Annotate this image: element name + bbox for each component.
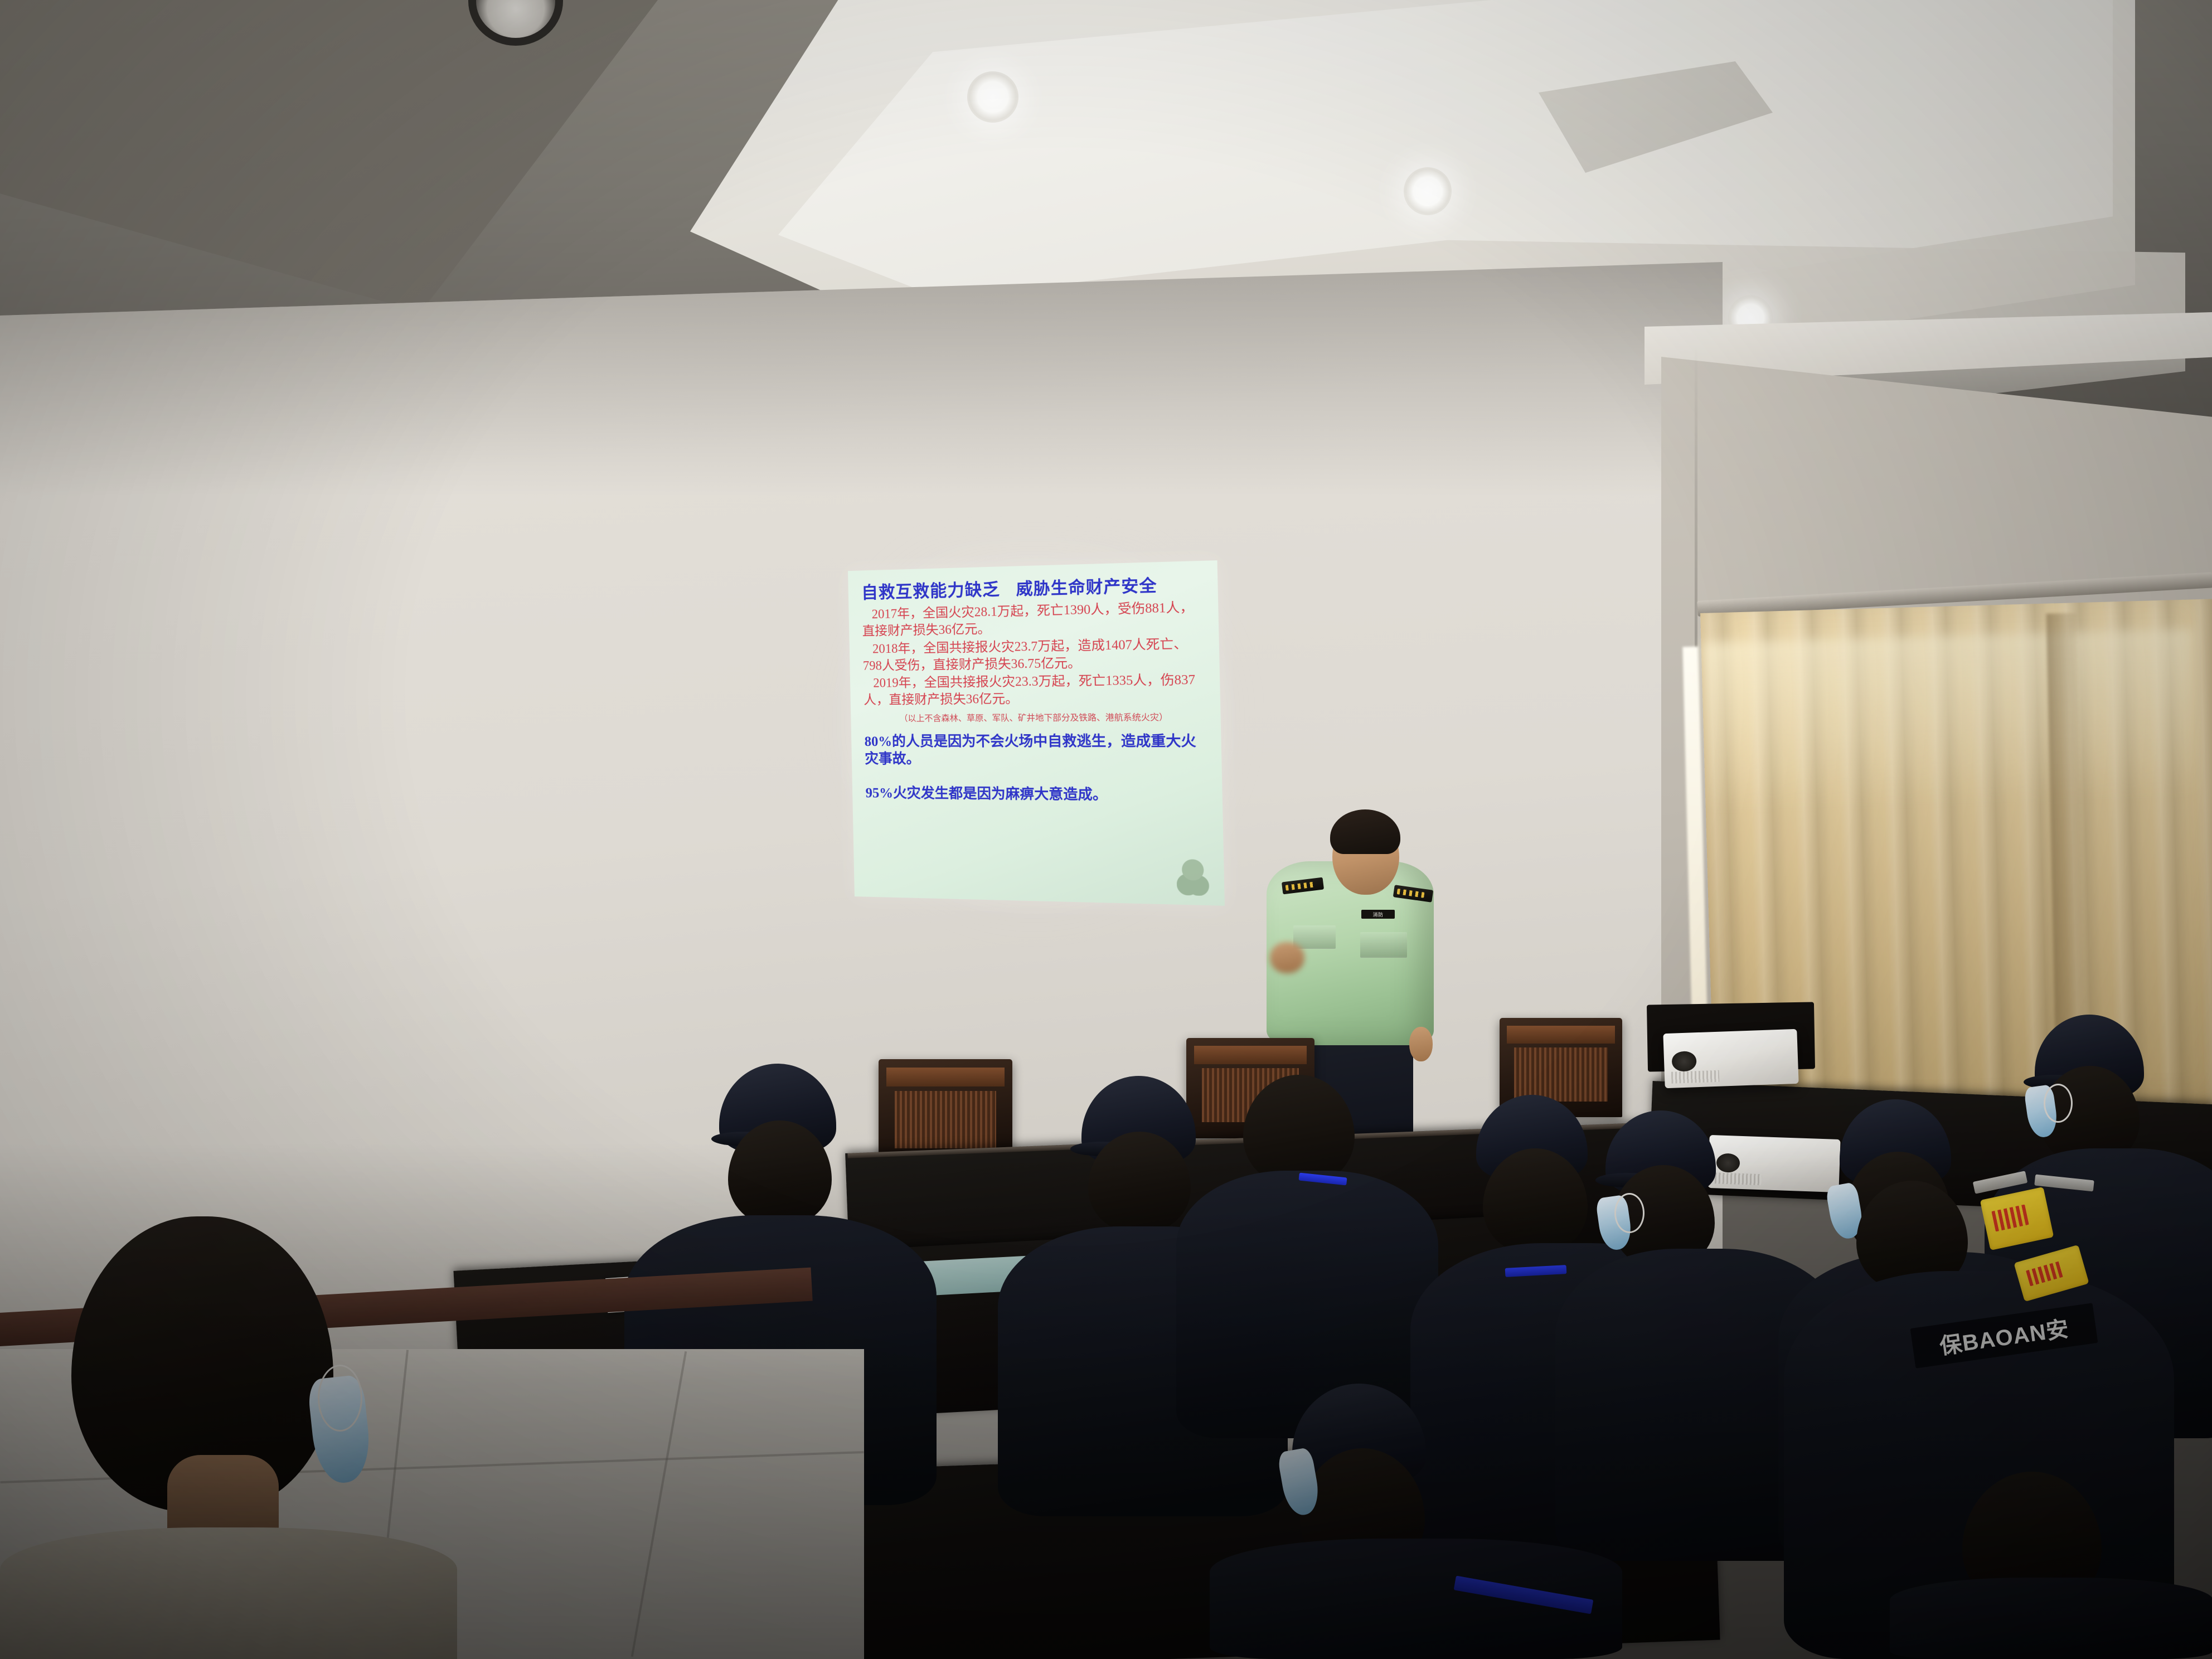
foreground-sweater xyxy=(0,1527,457,1659)
attendee-mask-strap xyxy=(1614,1193,1645,1233)
slide-heading: 自救互救能力缺乏 威胁生命财产安全 xyxy=(861,575,1205,603)
attendee-mask-strap xyxy=(2044,1084,2073,1123)
slide-stat-2017: 2017年，全国火灾28.1万起，死亡1390人，受伤881人，直接财产损失36… xyxy=(862,598,1205,639)
presenter-pocket-left xyxy=(1293,925,1336,949)
slide-watermark-logo xyxy=(1176,856,1210,896)
ceiling-downlight-icon xyxy=(967,71,1018,123)
projector-icon[interactable] xyxy=(1663,1029,1798,1088)
slide-heading-left: 自救互救能力缺乏 xyxy=(861,580,1000,603)
slide-key-pct-2: 95% xyxy=(865,785,893,801)
attendee-torso xyxy=(1890,1578,2212,1659)
slide-footnote: （以上不含森林、草原、军队、矿井地下部分及铁路、港航系统火灾） xyxy=(864,712,1207,725)
presenter-hand-left xyxy=(1270,942,1304,973)
presenter-nametag: 消防 xyxy=(1361,910,1395,919)
slide-key-text-1: 的人员是因为不会火场中自救逃生，造成重大火灾事故。 xyxy=(865,734,1196,767)
foreground-mask-strap xyxy=(318,1365,362,1432)
slide-stat-2018: 2018年，全国共接报火灾23.7万起，造成1407人死亡、798人受伤，直接财… xyxy=(862,635,1206,674)
slide-key-text-2: 火灾发生都是因为麻痹大意造成。 xyxy=(893,786,1108,803)
slide-key-point-1: 80%的人员是因为不会火场中自救逃生，造成重大火灾事故。 xyxy=(864,733,1208,769)
ceiling-downlight-icon xyxy=(1404,167,1452,215)
projected-slide: 自救互救能力缺乏 威胁生命财产安全 2017年，全国火灾28.1万起，死亡139… xyxy=(848,560,1225,906)
presenter-hand-right xyxy=(1409,1027,1433,1061)
slide-key-point-2: 95%火灾发生都是因为麻痹大意造成。 xyxy=(865,784,1209,805)
slide-heading-right: 威胁生命财产安全 xyxy=(1016,578,1157,599)
slide-key-pct-1: 80% xyxy=(865,734,892,749)
curtain-backlight xyxy=(1702,629,2198,809)
slide-stat-2019: 2019年，全国共接报火灾23.3万起，死亡1335人，伤837人，直接财产损失… xyxy=(863,671,1207,709)
conference-room-scene: 自救互救能力缺乏 威胁生命财产安全 2017年，全国火灾28.1万起，死亡139… xyxy=(0,0,2212,1659)
presenter-pocket-right xyxy=(1360,932,1407,958)
projector-icon[interactable] xyxy=(1707,1135,1840,1192)
